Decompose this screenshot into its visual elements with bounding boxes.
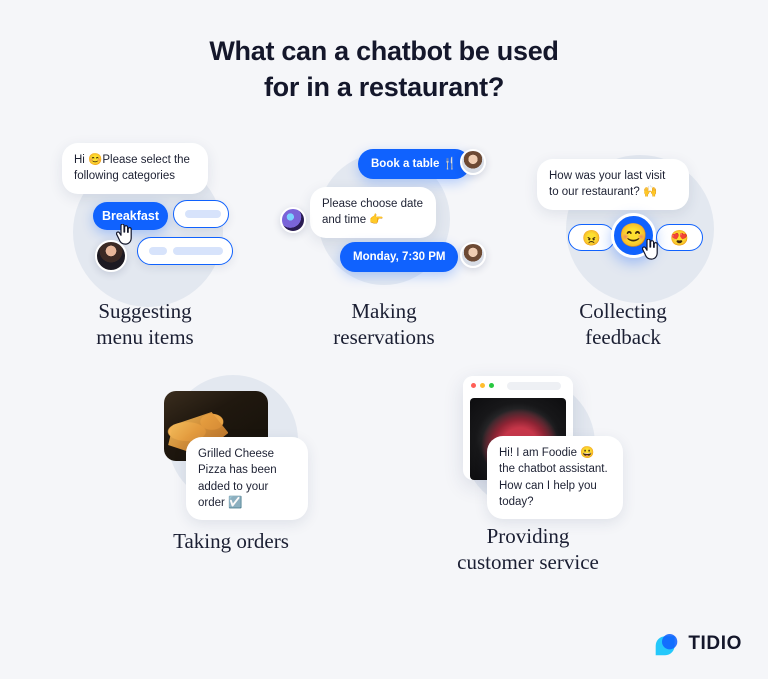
group-caption-feedback: Collecting feedback [518, 298, 728, 351]
group-providing-customer-service: Hi! I am Foodie 😀 the chatbot assistant.… [425, 368, 631, 583]
caption-line-1: Collecting [518, 298, 728, 324]
tidio-logo-text: TIDIO [688, 633, 742, 655]
bot-message-feedback-question: How was your last visit to our restauran… [537, 159, 689, 210]
hand-cursor-icon [642, 239, 659, 260]
bot-avatar [280, 207, 306, 233]
caption-line-2: menu items [40, 324, 250, 350]
caption-line-2: reservations [278, 324, 490, 350]
window-close-dot-icon[interactable] [471, 383, 476, 388]
placeholder-bar-long [173, 247, 223, 255]
caption-line-2: feedback [518, 324, 728, 350]
bot-message-greeting: Hi! I am Foodie 😀 the chatbot assistant.… [487, 436, 623, 519]
tidio-logo[interactable]: TIDIO [653, 630, 742, 657]
bot-message-order-added: Grilled Cheese Pizza has been added to y… [186, 437, 308, 520]
browser-url-bar[interactable] [507, 382, 561, 390]
group-taking-orders: Grilled Cheese Pizza has been added to y… [128, 373, 334, 578]
group-caption-reservations: Making reservations [278, 298, 490, 351]
option-placeholder-1[interactable] [173, 200, 229, 228]
reaction-angry-button[interactable]: 😠 [568, 224, 615, 251]
page-title-line-2: for in a restaurant? [0, 70, 768, 106]
caption-line-1: Suggesting [40, 298, 250, 324]
option-placeholder-2[interactable] [137, 237, 233, 265]
infographic-page: What can a chatbot be used for in a rest… [0, 0, 768, 679]
caption-line-2: customer service [425, 549, 631, 575]
placeholder-bar [185, 210, 221, 218]
group-collecting-feedback: How was your last visit to our restauran… [518, 135, 728, 335]
tidio-logo-mark-icon [653, 630, 680, 657]
user-message-book-a-table: Book a table 🍴 [358, 149, 470, 179]
caption-line-1: Taking orders [128, 528, 334, 554]
browser-title-bar [463, 376, 573, 395]
window-minimize-dot-icon[interactable] [480, 383, 485, 388]
bot-message-bubble: Hi 😊Please select the following categori… [62, 143, 208, 194]
placeholder-bar-short [149, 247, 167, 255]
window-maximize-dot-icon[interactable] [489, 383, 494, 388]
group-suggesting-menu-items: Hi 😊Please select the following categori… [40, 135, 250, 335]
caption-line-1: Making [278, 298, 490, 324]
group-caption-customer-service: Providing customer service [425, 523, 631, 576]
group-caption-suggesting: Suggesting menu items [40, 298, 250, 351]
page-title: What can a chatbot be used for in a rest… [0, 34, 768, 106]
page-title-line-1: What can a chatbot be used [0, 34, 768, 70]
hand-cursor-icon [116, 224, 133, 245]
feedback-reaction-row: 😠 😍 😊 [568, 215, 703, 260]
bot-message-choose-date: Please choose date and time 👉 [310, 187, 436, 238]
group-caption-taking-orders: Taking orders [128, 528, 334, 554]
user-avatar-top [460, 149, 486, 175]
group-making-reservations: Book a table 🍴 Please choose date and ti… [278, 135, 490, 335]
caption-line-1: Providing [425, 523, 631, 549]
reaction-love-button[interactable]: 😍 [656, 224, 703, 251]
user-message-monday-time: Monday, 7:30 PM [340, 242, 458, 272]
user-avatar-bottom [460, 242, 486, 268]
